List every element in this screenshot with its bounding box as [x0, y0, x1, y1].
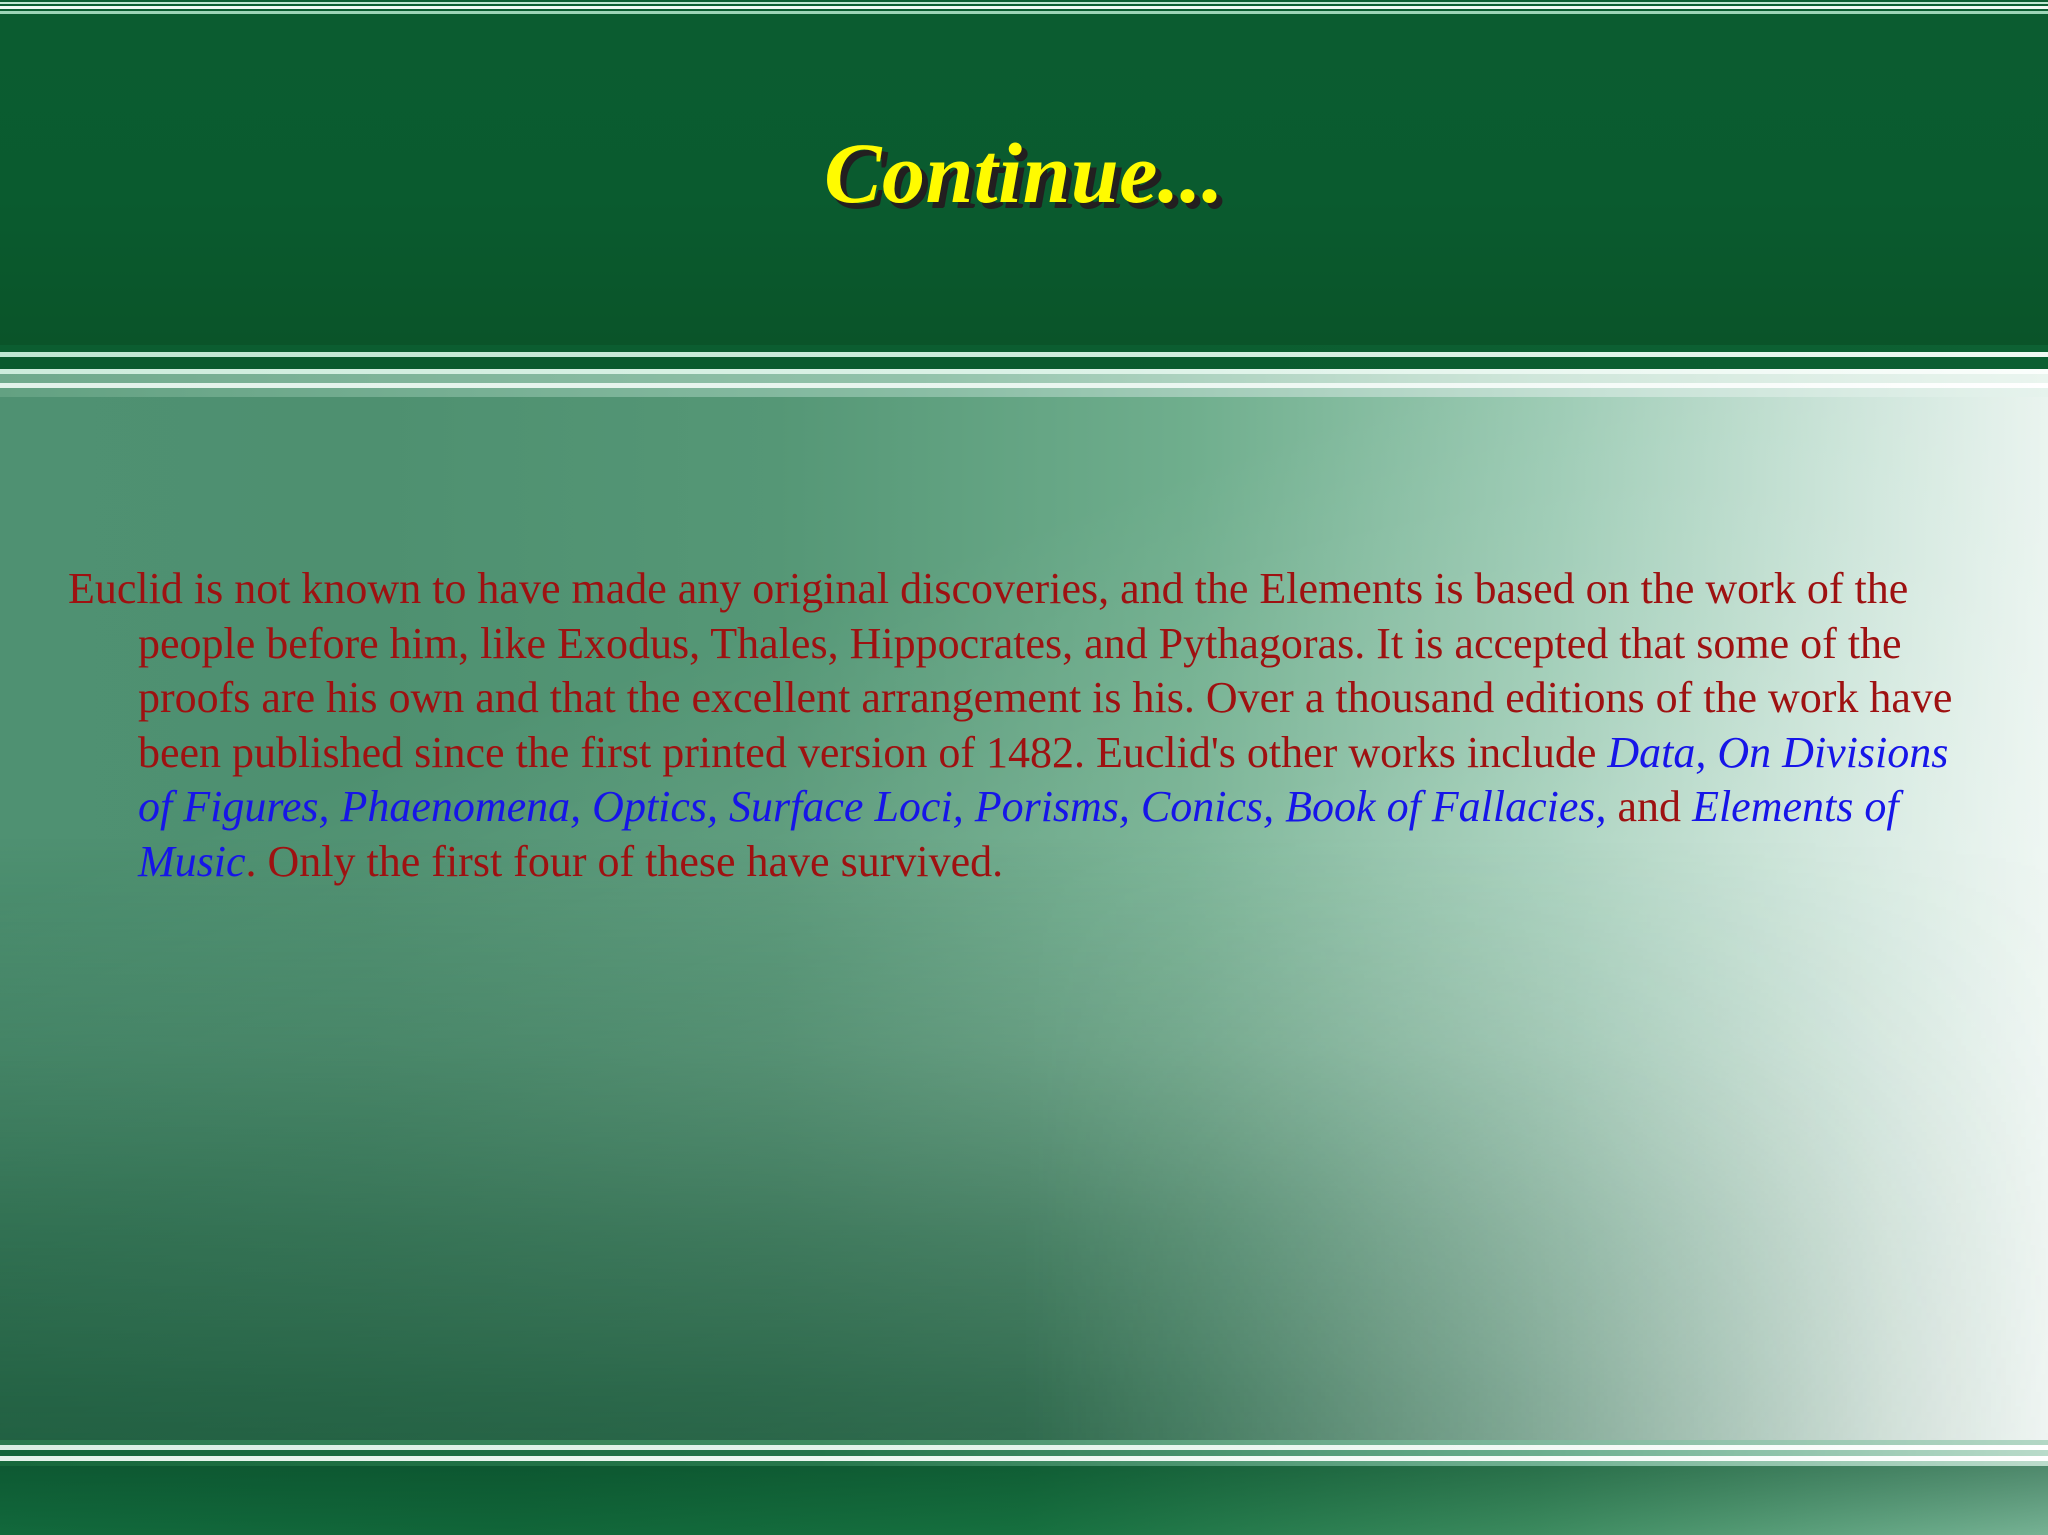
slide-footer-band: [0, 1466, 2048, 1535]
top-stripe-band: [0, 0, 2048, 20]
paragraph-conjunction: and: [1607, 782, 1693, 831]
presentation-slide: Continue... Euclid is not known to have …: [0, 0, 2048, 1535]
header-divider-stripes: [0, 345, 2048, 397]
slide-body-background: [0, 397, 2048, 1446]
divider-line-3: [0, 357, 2048, 369]
slide-content-area: Euclid is not known to have made any ori…: [68, 562, 1974, 890]
footer-divider-stripes: [0, 1440, 2048, 1466]
slide-title: Continue...: [0, 128, 2048, 218]
body-paragraph: Euclid is not known to have made any ori…: [68, 562, 1974, 890]
divider-line-5: [0, 374, 2048, 383]
paragraph-tail-text: . Only the first four of these have surv…: [246, 837, 1004, 886]
divider-line-1: [0, 345, 2048, 352]
divider-line-7: [0, 388, 2048, 397]
slide-header-band: Continue...: [0, 20, 2048, 345]
